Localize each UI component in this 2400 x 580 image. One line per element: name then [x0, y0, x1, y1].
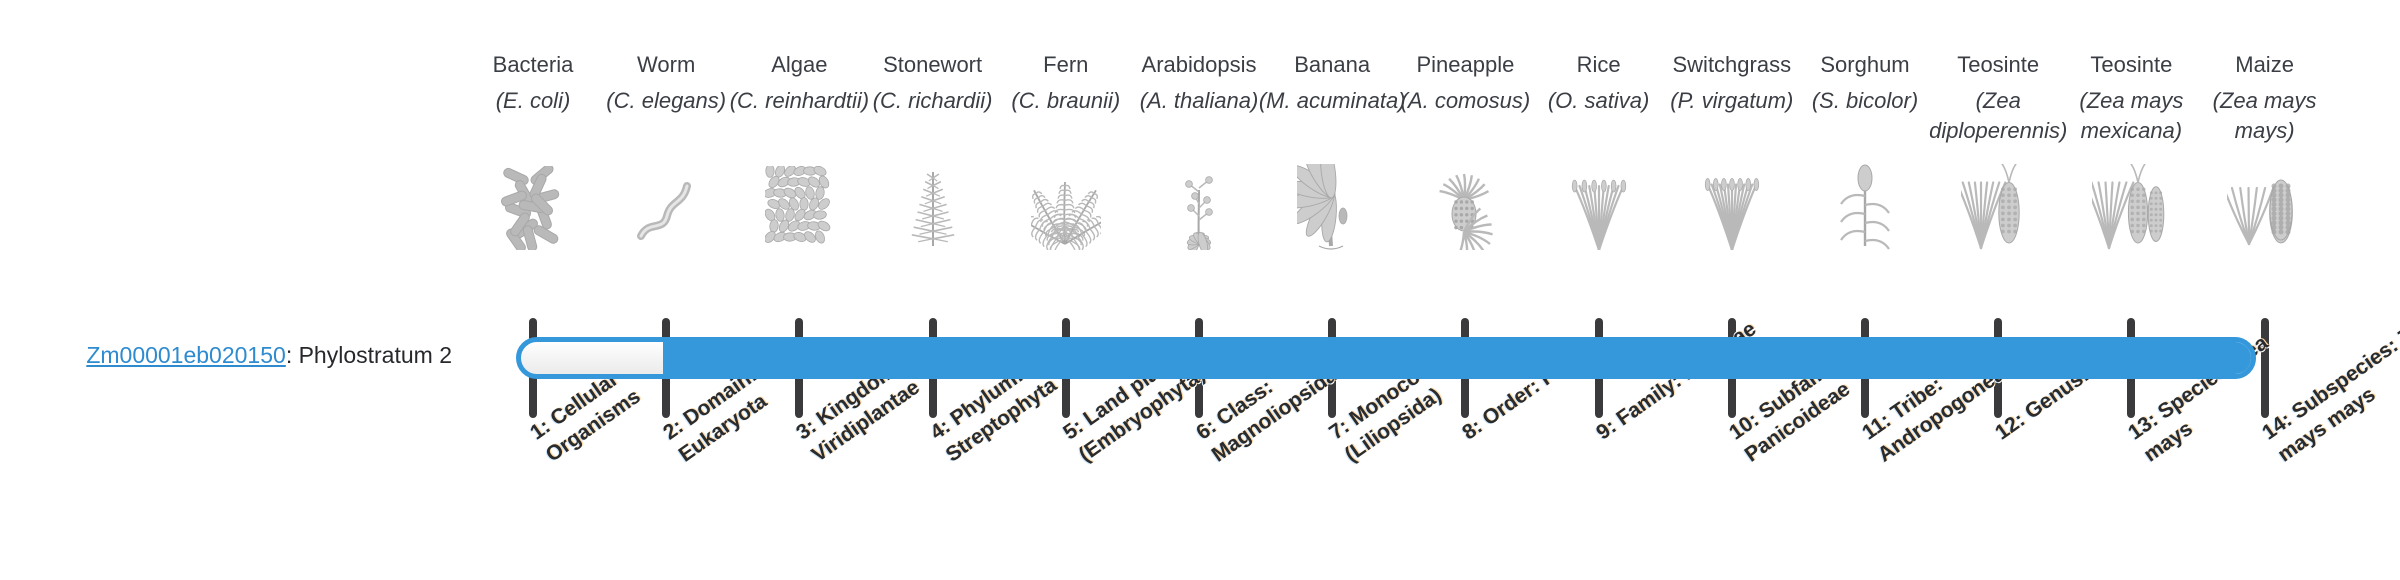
species-common-name: Banana	[1257, 50, 1407, 80]
gene-phylostratum-label: Zm00001eb020150: Phylostratum 2	[0, 342, 452, 369]
switchgrass-illustration	[1697, 168, 1767, 250]
species-column: Banana(M. acuminata)	[1257, 50, 1407, 116]
species-scientific-name: (S. bicolor)	[1790, 86, 1940, 116]
arabidopsis-illustration	[1165, 168, 1233, 250]
phylostratum-value-label: Phylostratum 2	[299, 342, 452, 368]
species-column: Maize(Zea mays mays)	[2190, 50, 2340, 146]
teosinte-diploperennis-illustration	[1961, 168, 2035, 250]
phylostratum-bar-fill	[663, 342, 2256, 374]
species-scientific-name: (C. reinhardtii)	[724, 86, 874, 116]
species-scientific-name: (C. braunii)	[991, 86, 1141, 116]
taxonomy-rank: Cellular Organisms	[542, 367, 645, 466]
species-column: Worm(C. elegans)	[591, 50, 741, 116]
stonewort-illustration	[900, 168, 966, 250]
maize-illustration	[2227, 168, 2303, 250]
bacteria-illustration	[499, 168, 567, 250]
species-scientific-name: (Zea mays mexicana)	[2056, 86, 2206, 146]
species-common-name: Teosinte	[1923, 50, 2073, 80]
worm-illustration	[633, 168, 699, 250]
species-common-name: Algae	[724, 50, 874, 80]
species-common-name: Stonewort	[858, 50, 1008, 80]
species-scientific-name: (P. virgatum)	[1657, 86, 1807, 116]
rice-illustration	[1566, 168, 1632, 250]
species-column: Sorghum(S. bicolor)	[1790, 50, 1940, 116]
species-column: Switchgrass(P. virgatum)	[1657, 50, 1807, 116]
species-column: Rice(O. sativa)	[1524, 50, 1674, 116]
species-column: Algae(C. reinhardtii)	[724, 50, 874, 116]
taxonomy-number: 4:	[926, 415, 955, 445]
species-column: Pineapple(A. comosus)	[1390, 50, 1540, 116]
banana-illustration	[1297, 168, 1367, 250]
species-scientific-name: (Zea diploperennis)	[1923, 86, 2073, 146]
species-scientific-name: (E. coli)	[458, 86, 608, 116]
species-common-name: Bacteria	[458, 50, 608, 80]
algae-illustration	[765, 168, 833, 250]
species-scientific-name: (Zea mays mays)	[2190, 86, 2340, 146]
species-common-name: Rice	[1524, 50, 1674, 80]
pineapple-illustration	[1430, 168, 1500, 250]
species-common-name: Worm	[591, 50, 741, 80]
fern-illustration	[1031, 168, 1101, 250]
taxonomy-number: 9:	[1592, 415, 1621, 445]
gene-id-link[interactable]: Zm00001eb020150	[86, 342, 286, 368]
species-column: Bacteria(E. coli)	[458, 50, 608, 116]
species-column: Fern(C. braunii)	[991, 50, 1141, 116]
species-scientific-name: (C. elegans)	[591, 86, 741, 116]
species-scientific-name: (M. acuminata)	[1257, 86, 1407, 116]
species-scientific-name: (O. sativa)	[1524, 86, 1674, 116]
species-scientific-name: (C. richardii)	[858, 86, 1008, 116]
phylostratum-bar-track[interactable]	[516, 337, 2256, 379]
teosinte-mexicana-illustration	[2092, 168, 2170, 250]
species-column: Teosinte(Zea mays mexicana)	[2056, 50, 2206, 146]
species-column: Teosinte(Zea diploperennis)	[1923, 50, 2073, 146]
species-common-name: Maize	[2190, 50, 2340, 80]
species-common-name: Fern	[991, 50, 1141, 80]
taxonomy-rank: Phylum: Streptophyta	[941, 364, 1060, 467]
species-scientific-name: (A. thaliana)	[1124, 86, 1274, 116]
species-column: Arabidopsis(A. thaliana)	[1124, 50, 1274, 116]
species-common-name: Switchgrass	[1657, 50, 1807, 80]
sorghum-illustration	[1831, 168, 1899, 250]
gene-label-separator: :	[286, 342, 299, 368]
species-column: Stonewort(C. richardii)	[858, 50, 1008, 116]
species-common-name: Pineapple	[1390, 50, 1540, 80]
species-common-name: Sorghum	[1790, 50, 1940, 80]
species-common-name: Arabidopsis	[1124, 50, 1274, 80]
taxonomy-number: 5:	[1059, 415, 1088, 445]
phylostratum-figure: Zm00001eb020150: Phylostratum 2 Bacteria…	[0, 0, 2400, 580]
species-common-name: Teosinte	[2056, 50, 2206, 80]
species-scientific-name: (A. comosus)	[1390, 86, 1540, 116]
